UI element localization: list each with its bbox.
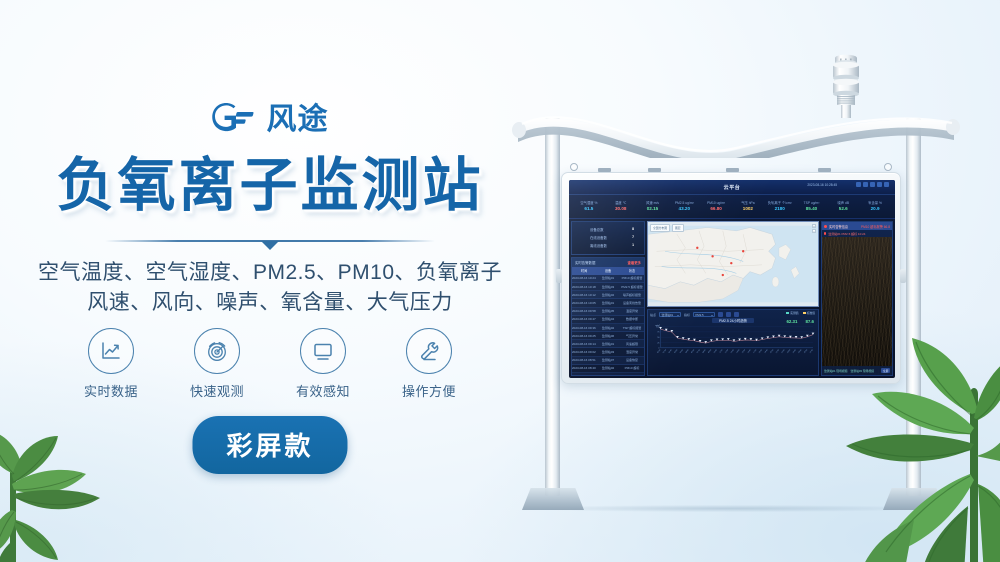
svg-text:22:00: 22:00 — [781, 349, 785, 354]
alarm-video-panel: 实时告警信息 PM10 超标报警 66.8 监测站01 PM2.5 超标 10:… — [821, 221, 893, 376]
table-cell: 气压异常 — [620, 334, 644, 338]
alarm-table-body: 2023-08-16 10:24:02监测站01PM10 超标报警2023-08… — [572, 275, 644, 376]
feature-label: 有效感知 — [296, 381, 350, 400]
bezel-hook-2 — [648, 168, 661, 172]
metric-card[interactable]: 空气湿度 %61.5 — [573, 201, 605, 213]
table-cell: 监测站02 — [596, 293, 620, 297]
svg-text:12:00: 12:00 — [725, 349, 729, 354]
table-cell: 2023-08-16 10:24:02 — [572, 276, 596, 280]
feature-label: 快速观测 — [190, 381, 244, 400]
svg-text:26:00: 26:00 — [804, 349, 808, 354]
chart-fullscreen-button[interactable] — [734, 312, 739, 317]
metric-card[interactable]: PM10 ug/m³66.80 — [700, 201, 732, 213]
svg-text:05:00: 05:00 — [685, 349, 689, 354]
bezel-ring-left — [570, 163, 578, 171]
svg-text:03:00: 03:00 — [674, 349, 678, 354]
table-row[interactable]: 2023-08-16 09:14:03监测站01风速超限 — [572, 340, 644, 348]
brand-name: 风途 — [267, 105, 329, 135]
chart-refresh-button[interactable] — [718, 312, 723, 317]
feature-list: 实时数据 快速观测 — [0, 328, 540, 400]
table-cell: 2023-08-16 10:18:45 — [572, 285, 596, 289]
camera-fullscreen-button[interactable]: 全屏 — [881, 368, 890, 373]
svg-text:25: 25 — [657, 342, 659, 344]
device-stats-panel: 设备总数8在线设备数7离线设备数1 — [571, 221, 645, 255]
dashboard-header-icons[interactable] — [856, 182, 889, 187]
ground-shadow — [540, 505, 920, 512]
svg-text:06:00: 06:00 — [691, 349, 695, 354]
chart-legend-item[interactable]: 实测值 — [786, 311, 798, 315]
alarm-header: 实时告警信息 PM10 超标报警 66.8 — [822, 222, 892, 230]
table-cell: 噪声告警 — [620, 375, 644, 376]
table-row[interactable]: 2023-08-16 09:58:07监测站05温度异常 — [572, 308, 644, 316]
chart-legend-item[interactable]: 标准值 — [803, 311, 815, 315]
device-stat-label: 离线设备数 — [590, 243, 607, 248]
dashboard-header: 云平台 2023-08-16 10:28:45 — [569, 180, 895, 195]
table-cell: 风速超限 — [620, 342, 644, 346]
camera-feed-image — [822, 237, 892, 375]
chart-controls[interactable]: 站点 监测站01 指标 PM2.5 实测值标准值 — [650, 312, 816, 317]
china-map-graphic — [648, 222, 818, 306]
map-zoom-out-button[interactable]: − — [812, 229, 816, 233]
metric-value: 52.6 — [827, 206, 859, 213]
product-variant-badge[interactable]: 彩屏款 — [192, 416, 347, 474]
svg-text:00:00: 00:00 — [657, 349, 661, 354]
table-cell: 噪声超标报警 — [620, 293, 644, 297]
chart-svg: 1007550250ug/m³00:0001:0002:0003:0004:00… — [650, 324, 816, 358]
chart-metric-label: 指标 — [684, 313, 690, 317]
table-row[interactable]: 2023-08-16 10:12:31监测站02噪声超标报警 — [572, 291, 644, 299]
table-cell: 监测站01 — [596, 342, 620, 346]
chart-icon[interactable] — [863, 182, 868, 187]
alarm-table-panel: 实时告警数据 查看更多 时间设备状态 2023-08-16 10:24:02监测… — [571, 257, 645, 376]
chart-metric-select[interactable]: PM2.5 — [693, 312, 715, 317]
feature-item-fast-observation[interactable]: 快速观测 — [179, 328, 255, 400]
alarm-table-caption: 实时告警数据 查看更多 — [572, 258, 644, 267]
svg-text:01:00: 01:00 — [663, 349, 667, 354]
bezel-hook-3 — [726, 168, 739, 172]
alarm-table-header: 时间设备状态 — [572, 267, 644, 275]
metric-strip: 空气湿度 %61.5温度 ℃30.08风速 m/s02.15PM2.5 ug/m… — [569, 195, 895, 219]
wrench-tool-icon — [406, 328, 452, 374]
feature-item-effective-sensing[interactable]: 有效感知 — [285, 328, 361, 400]
camera-tag-left[interactable]: 监测站01 现场视频 — [824, 369, 847, 373]
svg-text:17:00: 17:00 — [753, 349, 757, 354]
device-stat-row: 离线设备数1 — [576, 241, 640, 249]
section-divider — [0, 240, 540, 250]
camera-tag-mid[interactable]: 监测站03 现场视频 — [850, 369, 873, 373]
table-column-header: 状态 — [620, 268, 644, 273]
table-cell: 2023-08-16 09:25:14 — [572, 334, 596, 338]
device-stat-row: 设备总数8 — [576, 225, 640, 233]
alarm-row: 监测站01 PM2.5 超标 10:24 — [822, 230, 892, 237]
alarm-row-dot-icon — [824, 232, 826, 234]
alarm-table-more-link[interactable]: 查看更多 — [627, 260, 641, 265]
svg-text:08:00: 08:00 — [702, 349, 706, 354]
metric-card[interactable]: 噪声 dB52.6 — [827, 201, 859, 213]
svg-text:04:00: 04:00 — [680, 349, 684, 354]
svg-text:14:00: 14:00 — [736, 349, 740, 354]
table-row[interactable]: 2023-08-16 08:28:55监测站05噪声告警 — [572, 373, 644, 376]
table-cell: 2023-08-16 10:12:31 — [572, 293, 596, 297]
metric-value: 85.40 — [796, 206, 828, 213]
svg-text:19:00: 19:00 — [764, 349, 768, 354]
svg-text:20:00: 20:00 — [770, 349, 774, 354]
dashboard-body: 设备总数8在线设备数7离线设备数1 实时告警数据 查看更多 时间设备状态 202… — [569, 219, 895, 378]
radar-scan-icon — [194, 328, 240, 374]
metric-value: 66.80 — [700, 206, 732, 213]
table-cell: PM10 超标 — [620, 366, 644, 370]
chart-export-button[interactable] — [726, 312, 731, 317]
table-cell: 温度异常 — [620, 309, 644, 313]
table-row[interactable]: 2023-08-16 10:24:02监测站01PM10 超标报警 — [572, 275, 644, 283]
outdoor-display-panel: 云平台 2023-08-16 10:28:45 空气湿度 %61.5温度 ℃30… — [561, 172, 901, 384]
bezel-ring-right — [884, 163, 892, 171]
fengtu-g-logo-icon — [212, 103, 258, 137]
table-cell: PM10 超标报警 — [620, 276, 644, 280]
table-cell: 设备离线告警 — [620, 301, 644, 305]
table-cell: 监测站05 — [596, 309, 620, 313]
device-stat-value: 8 — [632, 227, 634, 232]
table-cell: 湿度异常 — [620, 350, 644, 354]
ultrasonic-weather-sensor-icon — [824, 52, 868, 118]
metric-card[interactable]: 氧含量 %20.9 — [859, 201, 891, 213]
table-cell: 监测站01 — [596, 276, 620, 280]
chart-station-select[interactable]: 监测站01 — [659, 312, 681, 317]
table-row[interactable]: 2023-08-16 09:36:40监测站02TSP 超标报警 — [572, 324, 644, 332]
svg-text:07:00: 07:00 — [697, 349, 701, 354]
table-cell: 2023-08-16 09:58:07 — [572, 309, 596, 313]
metric-card[interactable]: PM2.5 ug/m³43.20 — [668, 201, 700, 213]
down-triangle-divider-icon — [261, 241, 279, 250]
svg-text:50: 50 — [657, 337, 659, 339]
map-icon[interactable] — [870, 182, 875, 187]
metric-card[interactable]: 温度 ℃30.08 — [605, 201, 637, 213]
metric-value: 30.08 — [605, 206, 637, 213]
bezel-hook-4 — [818, 168, 831, 172]
sensor-list-line-1: 空气温度、空气湿度、PM2.5、PM10、负氧离子 — [0, 258, 540, 288]
alarm-header-title: 实时告警信息 — [829, 224, 848, 229]
user-icon[interactable] — [884, 182, 889, 187]
table-cell: 2023-08-16 09:02:48 — [572, 350, 596, 354]
chart-legend: 实测值标准值 — [786, 311, 815, 315]
table-column-header: 设备 — [596, 268, 620, 273]
metric-card[interactable]: 风速 m/s02.15 — [637, 201, 669, 213]
svg-text:11:00: 11:00 — [719, 349, 723, 354]
svg-text:15:00: 15:00 — [742, 349, 746, 354]
svg-text:18:00: 18:00 — [759, 349, 763, 354]
metric-value: 43.20 — [668, 206, 700, 213]
device-stat-label: 设备总数 — [590, 227, 604, 232]
metric-card[interactable]: 负氧离子 个/cm³2180 — [764, 201, 796, 213]
table-cell: 监测站07 — [596, 358, 620, 362]
table-cell: 2023-08-16 08:51:26 — [572, 358, 596, 362]
monitor-display-icon — [300, 328, 346, 374]
trend-chart-panel: 站点 监测站01 指标 PM2.5 实测值标准值 PM2.5 24小时趋势 62… — [647, 309, 819, 376]
brand-logo: 风途 — [0, 103, 540, 137]
alarm-dot-icon — [824, 225, 827, 228]
table-column-header: 时间 — [572, 268, 596, 273]
table-row[interactable]: 2023-08-16 10:05:18监测站01设备离线告警 — [572, 299, 644, 307]
feature-label: 实时数据 — [84, 381, 138, 400]
svg-text:10:00: 10:00 — [714, 349, 718, 354]
table-cell: 监测站02 — [596, 326, 620, 330]
gear-icon[interactable] — [877, 182, 882, 187]
support-post-right — [906, 118, 921, 496]
table-cell: 2023-08-16 09:36:40 — [572, 326, 596, 330]
metric-value: 61.5 — [573, 206, 605, 213]
table-cell: 2023-08-16 09:47:52 — [572, 317, 596, 321]
table-cell: 监测站02 — [596, 366, 620, 370]
svg-text:23:00: 23:00 — [787, 349, 791, 354]
chart-title: PM2.5 24小时趋势 — [712, 318, 754, 323]
alarm-row-text: 监测站01 PM2.5 超标 10:24 — [828, 232, 865, 236]
svg-text:ug/m³: ug/m³ — [655, 324, 660, 327]
table-cell: TSP 超标报警 — [620, 326, 644, 330]
table-row[interactable]: 2023-08-16 10:18:45监测站03PM2.5 超标报警 — [572, 283, 644, 291]
line-chart-icon — [88, 328, 134, 374]
chart-plot: 1007550250ug/m³00:0001:0002:0003:0004:00… — [650, 324, 816, 358]
legend-swatch-icon — [786, 312, 789, 314]
table-cell: 设备恢复 — [620, 358, 644, 362]
metric-name: 负氧离子 个/cm³ — [764, 201, 796, 206]
svg-text:13:00: 13:00 — [730, 349, 734, 354]
svg-text:16:00: 16:00 — [747, 349, 751, 354]
dashboard-right-column: 实时告警信息 PM10 超标报警 66.8 监测站01 PM2.5 超标 10:… — [821, 221, 893, 376]
map-zoom-controls[interactable]: + − — [812, 224, 816, 233]
metric-value: 2180 — [764, 206, 796, 213]
table-cell: 监测站04 — [596, 317, 620, 321]
legend-label: 实测值 — [790, 311, 798, 315]
dashboard-screen: 云平台 2023-08-16 10:28:45 空气湿度 %61.5温度 ℃30… — [569, 180, 895, 378]
metric-value: 02.15 — [637, 206, 669, 213]
bezel-side-tab-left — [556, 269, 562, 283]
base-flange-right — [883, 488, 945, 510]
table-row[interactable]: 2023-08-16 08:40:09监测站02PM10 超标 — [572, 365, 644, 373]
camera-feed[interactable]: 监测站01 现场视频 监测站03 现场视频 全屏 — [822, 237, 892, 375]
bezel-hook-1 — [598, 168, 611, 172]
metric-value: 1002 — [732, 206, 764, 213]
svg-text:09:00: 09:00 — [708, 349, 712, 354]
metric-value: 20.9 — [859, 206, 891, 213]
feature-item-realtime-data[interactable]: 实时数据 — [73, 328, 149, 400]
alarm-header-alert: PM10 超标报警 66.8 — [861, 224, 890, 229]
alarm-table-title: 实时告警数据 — [575, 260, 595, 265]
map-toolbar[interactable]: 全国分布图 图层 — [650, 224, 684, 232]
china-map-panel[interactable]: 全国分布图 图层 + − — [647, 221, 819, 307]
legend-swatch-icon — [803, 312, 806, 314]
svg-text:21:00: 21:00 — [776, 349, 780, 354]
metric-card[interactable]: TSP ug/m³85.40 — [796, 201, 828, 213]
sensor-list: 空气温度、空气湿度、PM2.5、PM10、负氧离子 风速、风向、噪声、氧含量、大… — [0, 258, 540, 318]
svg-text:75: 75 — [657, 332, 659, 334]
grid-icon[interactable] — [856, 182, 861, 187]
wave-canopy-icon — [512, 96, 960, 158]
svg-text:25:00: 25:00 — [798, 349, 802, 354]
chart-station-label: 站点 — [650, 313, 656, 317]
table-cell: 2023-08-16 09:14:03 — [572, 342, 596, 346]
table-cell: 监测站03 — [596, 350, 620, 354]
page-title: 负氧离子监测站 — [0, 155, 540, 218]
bezel-side-tab-right — [900, 269, 906, 283]
table-cell: 监测站06 — [596, 334, 620, 338]
camera-feed-toolbar[interactable]: 监测站01 现场视频 监测站03 现场视频 全屏 — [822, 366, 892, 375]
dashboard-title: 云平台 — [569, 184, 895, 191]
device-stat-value: 1 — [632, 243, 634, 248]
svg-text:24:00: 24:00 — [793, 349, 797, 354]
table-cell: 数据中断 — [620, 317, 644, 321]
map-layer-chip[interactable]: 图层 — [672, 224, 684, 232]
table-cell: 2023-08-16 08:40:09 — [572, 366, 596, 370]
table-row[interactable]: 2023-08-16 09:02:48监测站03湿度异常 — [572, 348, 644, 356]
table-cell: 监测站03 — [596, 285, 620, 289]
table-row[interactable]: 2023-08-16 09:25:14监测站06气压异常 — [572, 332, 644, 340]
dashboard-clock: 2023-08-16 10:28:45 — [807, 183, 837, 187]
table-row[interactable]: 2023-08-16 08:51:26监测站07设备恢复 — [572, 357, 644, 365]
table-row[interactable]: 2023-08-16 09:47:52监测站04数据中断 — [572, 316, 644, 324]
table-cell: PM2.5 超标报警 — [620, 285, 644, 289]
svg-text:02:00: 02:00 — [668, 349, 672, 354]
map-zoom-in-button[interactable]: + — [812, 224, 816, 228]
device-stat-label: 在线设备数 — [590, 235, 607, 240]
dashboard-left-column: 设备总数8在线设备数7离线设备数1 实时告警数据 查看更多 时间设备状态 202… — [571, 221, 645, 376]
table-cell: 2023-08-16 08:28:55 — [572, 375, 596, 376]
legend-label: 标准值 — [807, 311, 815, 315]
metric-card[interactable]: 气压 hPa1002 — [732, 201, 764, 213]
feature-label: 操作方便 — [402, 381, 456, 400]
dashboard-center-column: 全国分布图 图层 + − — [647, 221, 819, 376]
sensor-list-line-2: 风速、风向、噪声、氧含量、大气压力 — [0, 288, 540, 318]
table-cell: 监测站05 — [596, 375, 620, 376]
device-stat-value: 7 — [632, 235, 634, 240]
promo-banner: 云平台 2023-08-16 10:28:45 空气湿度 %61.5温度 ℃30… — [0, 0, 1000, 562]
map-region-chip[interactable]: 全国分布图 — [650, 224, 670, 232]
promo-copy-column: 风途 负氧离子监测站 空气温度、空气湿度、PM2.5、PM10、负氧离子 风速、… — [0, 0, 540, 562]
feature-item-easy-operation[interactable]: 操作方便 — [391, 328, 467, 400]
table-cell: 2023-08-16 10:05:18 — [572, 301, 596, 305]
device-stat-row: 在线设备数7 — [576, 233, 640, 241]
svg-text:27:00: 27:00 — [810, 349, 814, 354]
table-cell: 监测站01 — [596, 301, 620, 305]
support-post-left — [545, 118, 560, 496]
